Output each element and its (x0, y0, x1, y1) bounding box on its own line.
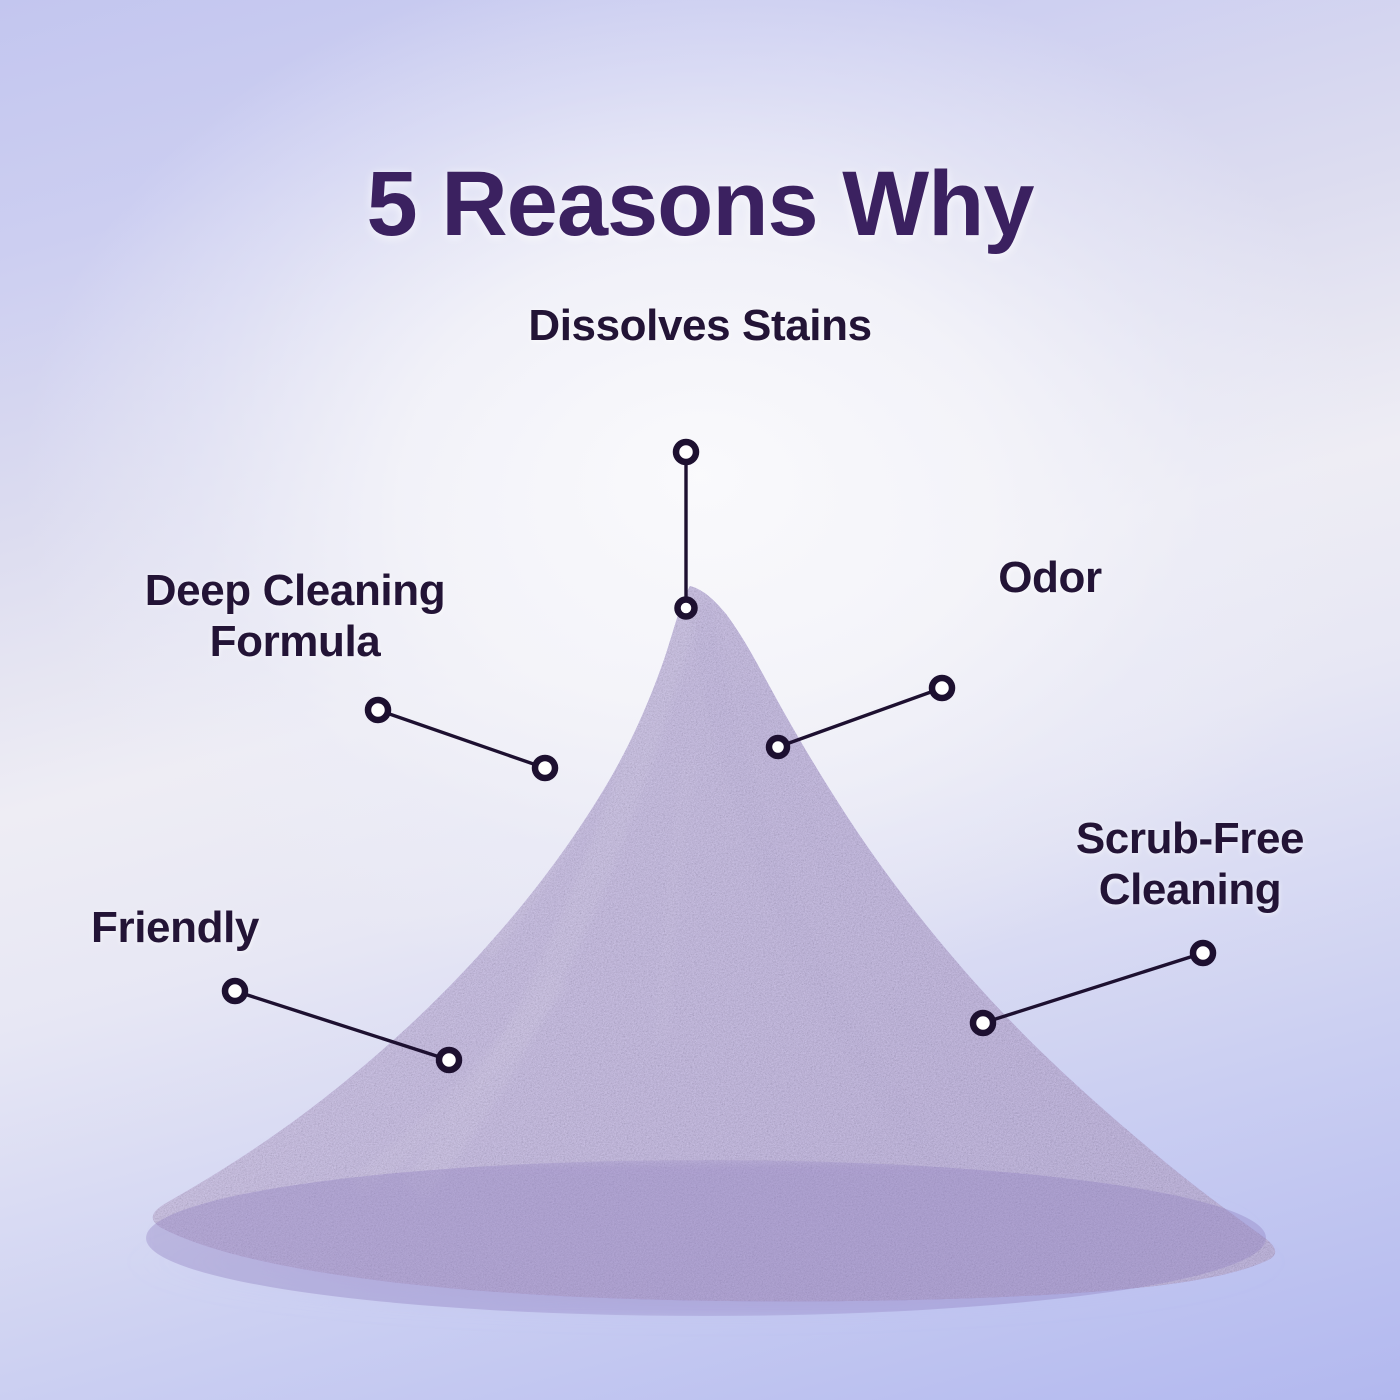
feature-label-dissolves-stains: Dissolves Stains (400, 300, 1000, 351)
feature-label-scrub-free-cleaning: Scrub-Free Cleaning (1000, 813, 1380, 915)
poster-canvas: 5 Reasons Why (0, 0, 1400, 1400)
feature-label-friendly: Friendly (40, 902, 310, 953)
feature-label-odor: Odor (900, 552, 1200, 603)
page-title: 5 Reasons Why (0, 158, 1400, 250)
feature-label-deep-cleaning-formula: Deep Cleaning Formula (60, 565, 530, 667)
